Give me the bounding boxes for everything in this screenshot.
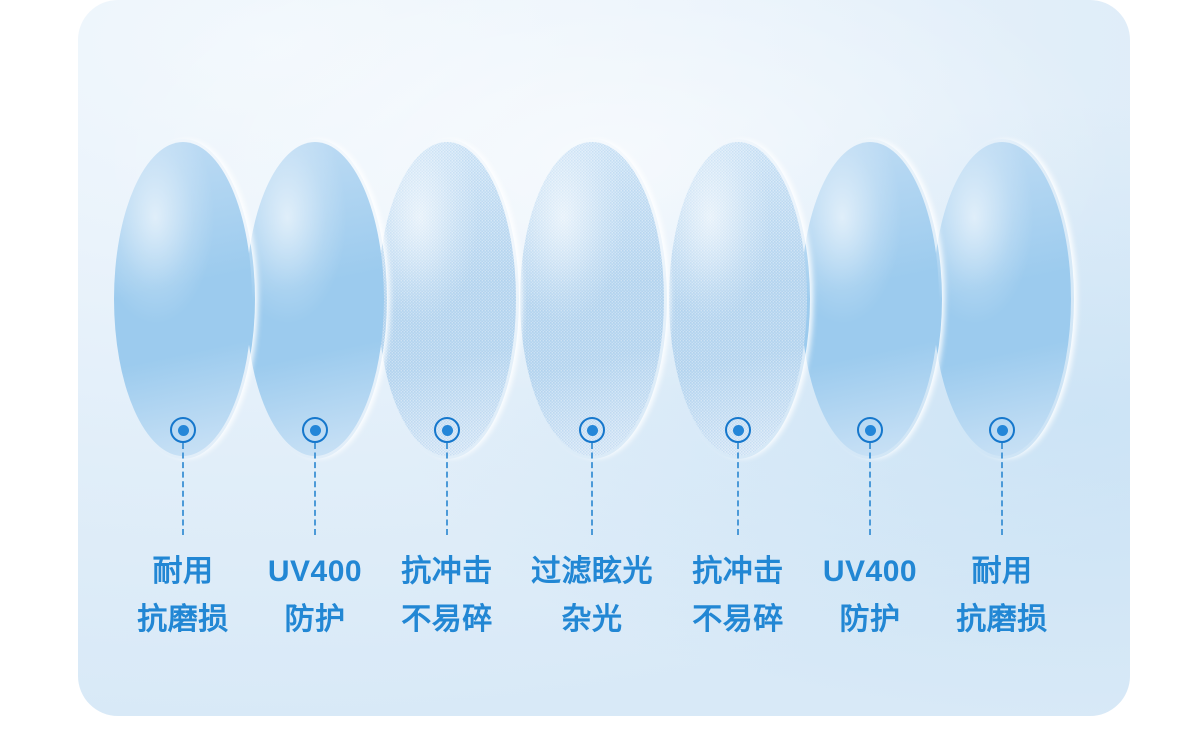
lens-ellipse (520, 142, 664, 456)
lens-ellipse (378, 142, 516, 456)
lens-marker-icon[interactable] (857, 417, 883, 443)
lens-surface (933, 142, 1071, 456)
leader-line (314, 443, 316, 535)
marker-center-dot (442, 425, 453, 436)
lens-surface (801, 142, 939, 456)
lens-feature-label: UV400防护 (268, 548, 362, 644)
lens-marker-icon[interactable] (725, 417, 751, 443)
lens-surface (378, 142, 516, 456)
leader-line (182, 443, 184, 535)
lens-feature-label-line-1: UV400 (268, 548, 362, 596)
marker-center-dot (178, 425, 189, 436)
leader-line (446, 443, 448, 535)
lens-feature-label: 耐用抗磨损 (137, 548, 229, 644)
lens-feature-label: 过滤眩光杂光 (531, 548, 653, 644)
lens-marker-icon[interactable] (989, 417, 1015, 443)
leader-line (591, 443, 593, 535)
lens-feature-label-line-1: 过滤眩光 (531, 548, 653, 596)
lens-feature-label-line-1: 耐用 (137, 548, 229, 596)
marker-center-dot (865, 425, 876, 436)
lens-feature-label-line-2: 不易碎 (692, 596, 784, 644)
lens-feature-label-line-2: 防护 (268, 596, 362, 644)
lens-feature-label-line-1: 抗冲击 (401, 548, 493, 596)
lens-ellipse (669, 142, 807, 456)
lens-ellipse (933, 142, 1071, 456)
lens-marker-icon[interactable] (579, 417, 605, 443)
marker-center-dot (733, 425, 744, 436)
lens-feature-graphic: 耐用抗磨损UV400防护抗冲击不易碎过滤眩光杂光抗冲击不易碎UV400防护耐用抗… (0, 0, 1200, 730)
lens-feature-label-line-1: 耐用 (956, 548, 1048, 596)
lens-feature-label: UV400防护 (823, 548, 917, 644)
lens-feature-label-line-2: 不易碎 (401, 596, 493, 644)
lens-ellipse (801, 142, 939, 456)
lens-feature-label: 抗冲击不易碎 (401, 548, 493, 644)
lens-ellipse (246, 142, 384, 456)
lens-row: 耐用抗磨损UV400防护抗冲击不易碎过滤眩光杂光抗冲击不易碎UV400防护耐用抗… (78, 0, 1130, 716)
lens-feature-label-line-1: 抗冲击 (692, 548, 784, 596)
lens-marker-icon[interactable] (434, 417, 460, 443)
lens-feature-label: 抗冲击不易碎 (692, 548, 784, 644)
leader-line (737, 443, 739, 535)
marker-center-dot (587, 425, 598, 436)
lens-feature-label-line-2: 防护 (823, 596, 917, 644)
lens-feature-label: 耐用抗磨损 (956, 548, 1048, 644)
lens-feature-label-line-2: 抗磨损 (956, 596, 1048, 644)
lens-feature-label-line-1: UV400 (823, 548, 917, 596)
leader-line (869, 443, 871, 535)
lens-marker-icon[interactable] (302, 417, 328, 443)
lens-ellipse (114, 142, 252, 456)
lens-surface (114, 142, 252, 456)
lens-surface (246, 142, 384, 456)
leader-line (1001, 443, 1003, 535)
lens-feature-label-line-2: 杂光 (531, 596, 653, 644)
lens-surface (520, 142, 664, 456)
lens-feature-label-line-2: 抗磨损 (137, 596, 229, 644)
lens-marker-icon[interactable] (170, 417, 196, 443)
lens-surface (669, 142, 807, 456)
marker-center-dot (310, 425, 321, 436)
lens-feature-panel: 耐用抗磨损UV400防护抗冲击不易碎过滤眩光杂光抗冲击不易碎UV400防护耐用抗… (78, 0, 1130, 716)
marker-center-dot (997, 425, 1008, 436)
